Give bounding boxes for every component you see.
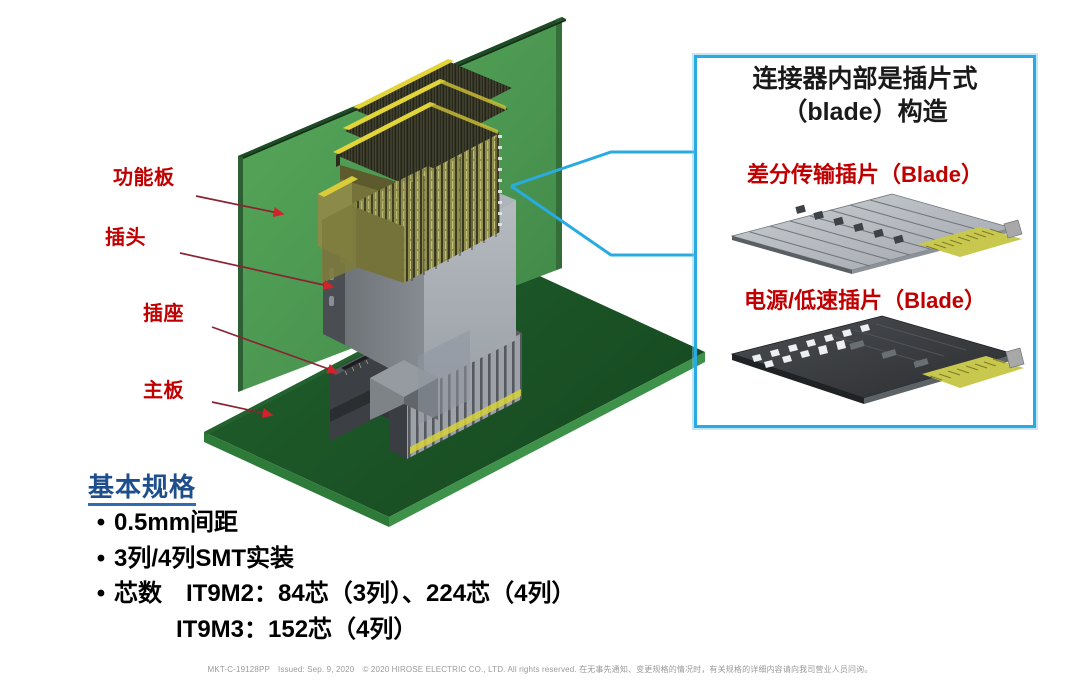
label-power-lowspeed-blade: 电源/低速插片（Blade） xyxy=(700,283,1030,315)
bullet-glyph: • xyxy=(88,544,114,574)
power-lowspeed-blade-figure xyxy=(722,312,1032,412)
label-motherboard: 主板 xyxy=(143,381,184,401)
label-differential-blade: 差分传输插片（Blade） xyxy=(700,157,1030,189)
spec-item-0: • 0.5mm间距 xyxy=(88,508,768,539)
bullet-glyph: • xyxy=(88,579,114,609)
spec-item-1: • 3列/4列SMT实装 xyxy=(88,544,768,575)
differential-blade-figure xyxy=(722,188,1032,276)
spec-heading: 基本规格 xyxy=(88,473,196,506)
label-receptacle: 插座 xyxy=(143,304,184,324)
spec-item-2: • 芯数 IT9M2：84芯（3列）、224芯（4列） xyxy=(88,579,768,610)
spec-item-continuation: IT9M3：152芯（4列） xyxy=(88,615,768,646)
slide-canvas: 功能板 插头 插座 主板 连接器内部是插片式 （blade）构造 差分传输插片（… xyxy=(0,0,1080,686)
callout-title-line-2: （blade）构造 xyxy=(700,96,1030,129)
callout-title: 连接器内部是插片式 （blade）构造 xyxy=(700,63,1030,129)
spec-list: • 0.5mm间距 • 3列/4列SMT实装 • 芯数 IT9M2：84芯（3列… xyxy=(88,508,768,646)
footer-legal-text: MKT-C-19128PP Issued: Sep. 9, 2020 © 202… xyxy=(0,664,1080,675)
bullet-glyph: • xyxy=(88,508,114,538)
label-plug: 插头 xyxy=(105,228,146,248)
spec-item-text: 3列/4列SMT实装 xyxy=(114,544,294,575)
callout-title-line-1: 连接器内部是插片式 xyxy=(700,63,1030,96)
spec-item-text: 芯数 IT9M2：84芯（3列）、224芯（4列） xyxy=(114,579,575,610)
spec-item-text: 0.5mm间距 xyxy=(114,508,238,539)
label-function-board: 功能板 xyxy=(113,168,175,188)
